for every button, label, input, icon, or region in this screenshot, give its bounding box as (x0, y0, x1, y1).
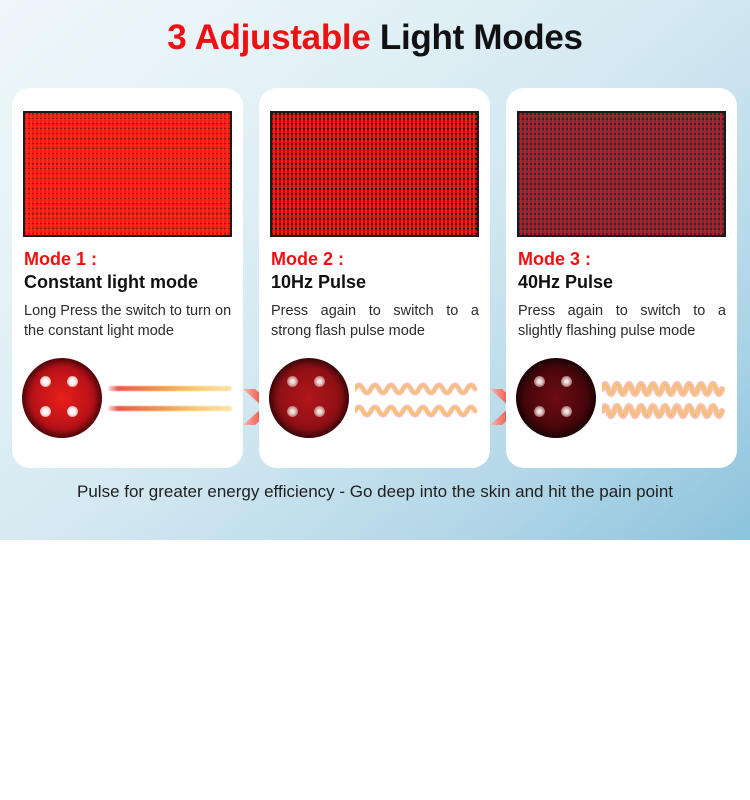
wave-line (602, 378, 726, 400)
beam-line (108, 406, 232, 411)
led-emitter-disc-dim (516, 358, 596, 438)
emitter-dot (67, 376, 78, 387)
infographic-panel: 3 Adjustable Light Modes Mode 1 : Consta… (0, 0, 750, 540)
mode-label-1: Mode 1 : (24, 249, 97, 270)
led-emitter-disc-medium (269, 358, 349, 438)
wave-line (602, 400, 726, 422)
emitter-dot (40, 406, 51, 417)
wave-line (355, 400, 479, 422)
mode-label-2: Mode 2 : (271, 249, 344, 270)
mode-description-1: Long Press the switch to turn on the con… (24, 301, 232, 341)
emitter-dot (534, 406, 545, 417)
page-title-rest: Light Modes (371, 18, 583, 57)
wave-line (355, 378, 479, 400)
emitter-dot (561, 376, 572, 387)
mode-card-2[interactable]: Mode 2 : 10Hz Pulse Press again to switc… (259, 88, 490, 468)
led-emitter-disc-bright (22, 358, 102, 438)
emitter-dot (314, 376, 325, 387)
emitter-dot (287, 406, 298, 417)
emitter-dot (287, 376, 298, 387)
emitter-dot (67, 406, 78, 417)
wavy-light-beam-high-frequency (602, 376, 726, 422)
page-title: 3 Adjustable Light Modes (0, 18, 750, 58)
mode-card-1[interactable]: Mode 1 : Constant light mode Long Press … (12, 88, 243, 468)
beam-line (108, 386, 232, 391)
mode-card-3[interactable]: Mode 3 : 40Hz Pulse Press again to switc… (506, 88, 737, 468)
mode-name-3: 40Hz Pulse (518, 272, 613, 293)
led-panel-full-brightness (23, 111, 232, 237)
straight-light-beam (108, 376, 232, 422)
wavy-light-beam-low-frequency (355, 376, 479, 422)
emitter-dot (561, 406, 572, 417)
white-space-below (0, 540, 750, 800)
emitter-dot (534, 376, 545, 387)
mode-description-3: Press again to switch to a slightly flas… (518, 301, 726, 341)
mode-name-1: Constant light mode (24, 272, 198, 293)
mode-description-2: Press again to switch to a strong flash … (271, 301, 479, 341)
emitter-dot (314, 406, 325, 417)
page-title-accent: 3 Adjustable (167, 18, 370, 57)
footer-caption: Pulse for greater energy efficiency - Go… (60, 478, 690, 505)
mode-name-2: 10Hz Pulse (271, 272, 366, 293)
led-panel-medium-brightness (270, 111, 479, 237)
emitter-dot (40, 376, 51, 387)
mode-label-3: Mode 3 : (518, 249, 591, 270)
led-panel-low-brightness (517, 111, 726, 237)
